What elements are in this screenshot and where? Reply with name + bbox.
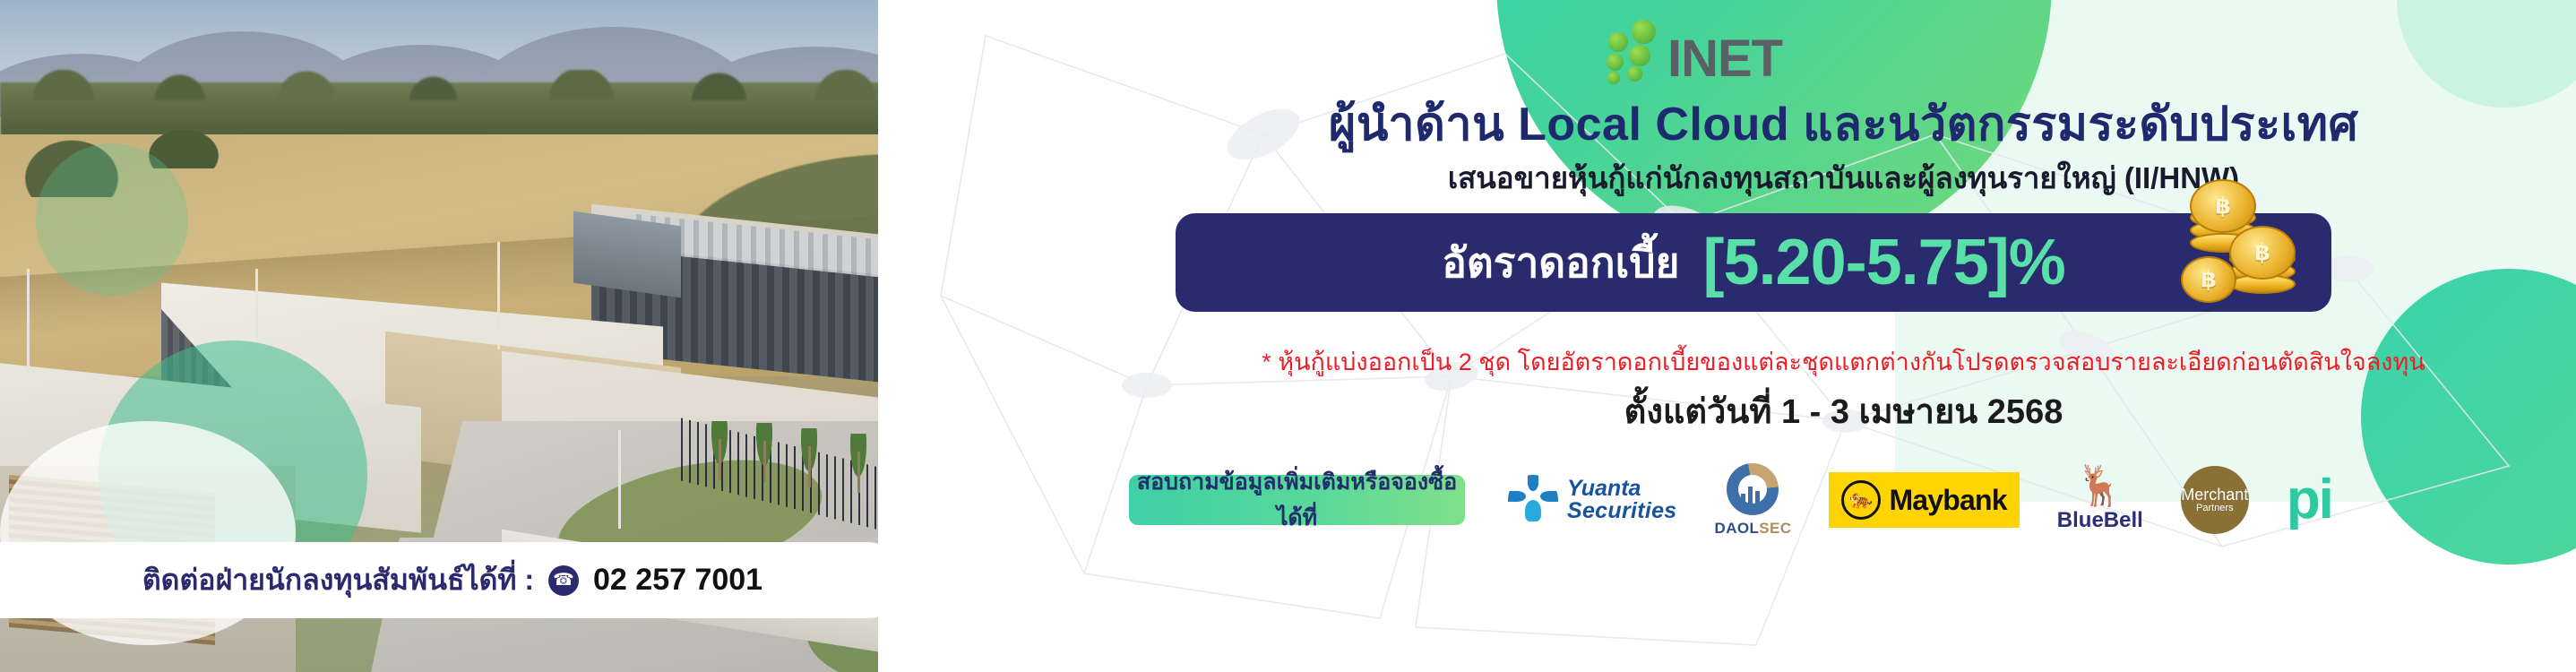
partners-wordmark: Partners (2196, 504, 2234, 514)
bluebell-deer-icon: 🦌 (2075, 467, 2124, 506)
offering-disclaimer: * หุ้นกู้แบ่งออกเป็น 2 ชุด โดยอัตราดอกเบ… (1111, 342, 2576, 381)
investor-relations-contact-card: ติดต่อฝ่ายนักลงทุนสัมพันธ์ได้ที่ : ☎ 02 … (0, 542, 905, 618)
interest-rate-value: [5.20-5.75]% (1703, 230, 2065, 295)
partner-logo-merchant-partners[interactable]: Merchant Partners (2181, 466, 2249, 534)
offering-dateline: ตั้งแต่วันที่ 1 - 3 เมษายน 2568 (1111, 383, 2576, 438)
partner-logo-pi[interactable]: pi (2287, 477, 2332, 524)
contact-label: ติดต่อฝ่ายนักลงทุนสัมพันธ์ได้ที่ : (142, 557, 534, 603)
phone-icon: ☎ (548, 565, 579, 596)
partner-logo-yuanta[interactable]: Yuanta Securities (1508, 475, 1677, 525)
inet-wordmark: INET (1667, 36, 1782, 82)
daol-pie-icon (1727, 463, 1779, 515)
inet-bond-offering-banner: INET ผู้นำด้าน Local Cloud และนวัตกรรมระ… (0, 0, 2576, 672)
pi-wordmark-icon: pi (2287, 477, 2332, 524)
daol-bars-icon (1741, 487, 1760, 504)
inet-dots-logo-icon (1599, 18, 1662, 82)
bluebell-wordmark: BlueBell (2057, 508, 2143, 533)
page-subtitle: เสนอขายหุ้นกู้แก่นักลงทุนสถาบันและผู้ลงท… (1111, 154, 2576, 202)
interest-rate-label: อัตราดอกเบี้ย (1442, 230, 1679, 296)
contact-phone-number[interactable]: 02 257 7001 (593, 563, 762, 598)
photo-pole (497, 242, 500, 349)
partner-logo-daolsec[interactable]: DAOLSEC (1715, 463, 1792, 538)
photo-building-block (573, 211, 681, 298)
partner-logos: Yuanta Securities DAOLSEC 🐅 (1508, 463, 2332, 538)
interest-rate-box: อัตราดอกเบี้ย [5.20-5.75]% ฿ ฿ ฿ (1176, 213, 2331, 312)
banner-content: INET ผู้นำด้าน Local Cloud และนวัตกรรมระ… (1111, 0, 2576, 672)
inet-logo: INET (1599, 14, 1940, 82)
yuanta-star-icon (1508, 475, 1558, 525)
partner-logo-maybank[interactable]: 🐅 Maybank (1829, 472, 2019, 528)
merchant-wordmark: Merchant (2181, 487, 2248, 504)
inquire-or-subscribe-button[interactable]: สอบถามข้อมูลเพิ่มเติมหรือจองซื้อได้ที่ (1129, 475, 1465, 525)
partner-logo-bluebell[interactable]: 🦌 BlueBell (2057, 467, 2143, 533)
page-title: ผู้นำด้าน Local Cloud และนวัตกรรมระดับปร… (1111, 86, 2576, 160)
maybank-tiger-icon: 🐅 (1841, 480, 1881, 520)
photo-pole (618, 430, 621, 529)
merchant-partners-circle-icon: Merchant Partners (2181, 466, 2249, 534)
maybank-wordmark: Maybank (1889, 484, 2006, 517)
gold-coins-icon: ฿ ฿ ฿ (2175, 190, 2310, 315)
cta-and-partners-row: สอบถามข้อมูลเพิ่มเติมหรือจองซื้อได้ที่ Y… (1129, 464, 2572, 536)
yuanta-wordmark: Yuanta Securities (1567, 478, 1677, 523)
daol-wordmark: DAOLSEC (1715, 520, 1792, 538)
photo-palm (753, 423, 776, 480)
photo-palm (797, 428, 821, 486)
decorative-green-circle (36, 143, 188, 296)
photo-palm (708, 421, 731, 478)
photo-pole (27, 269, 30, 385)
photo-palm (847, 434, 870, 491)
